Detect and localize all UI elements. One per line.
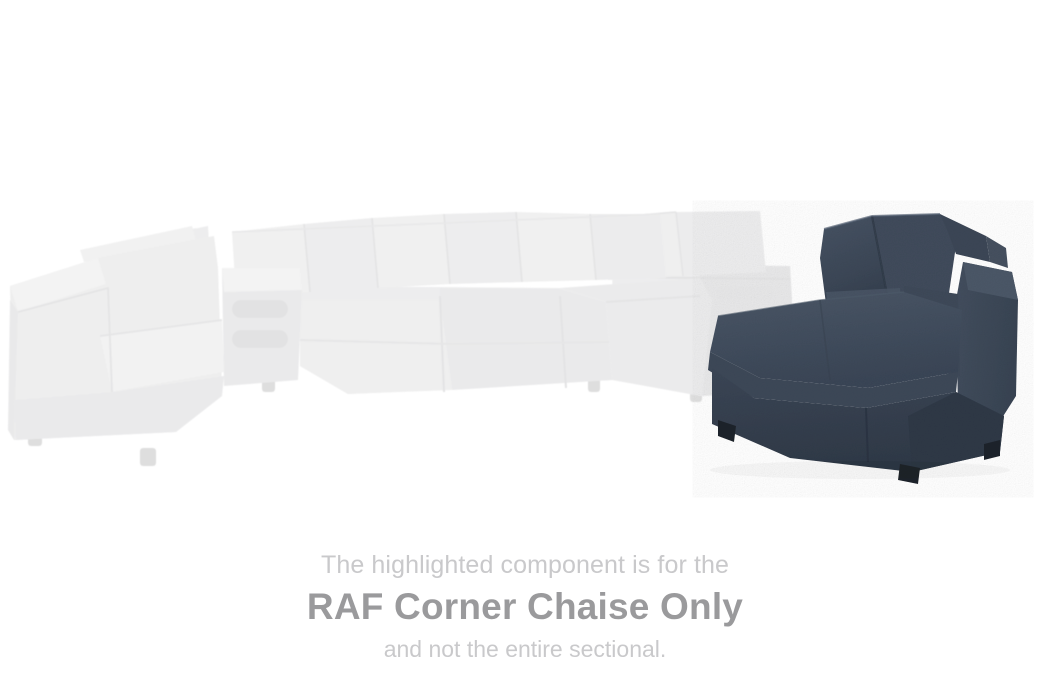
ghost-seat-row bbox=[300, 278, 712, 396]
product-image-canvas: The highlighted component is for the RAF… bbox=[0, 0, 1050, 700]
ghost-console bbox=[222, 268, 302, 386]
caption-line-3: and not the entire sectional. bbox=[0, 633, 1050, 665]
caption-line-2-component-name: RAF Corner Chaise Only bbox=[0, 584, 1050, 630]
sectional-sofa-illustration bbox=[0, 0, 1050, 520]
ghost-laf-loveseat bbox=[8, 226, 224, 440]
ghost-sectional-group bbox=[8, 211, 792, 466]
caption-block: The highlighted component is for the RAF… bbox=[0, 548, 1050, 665]
caption-line-1: The highlighted component is for the bbox=[0, 548, 1050, 582]
